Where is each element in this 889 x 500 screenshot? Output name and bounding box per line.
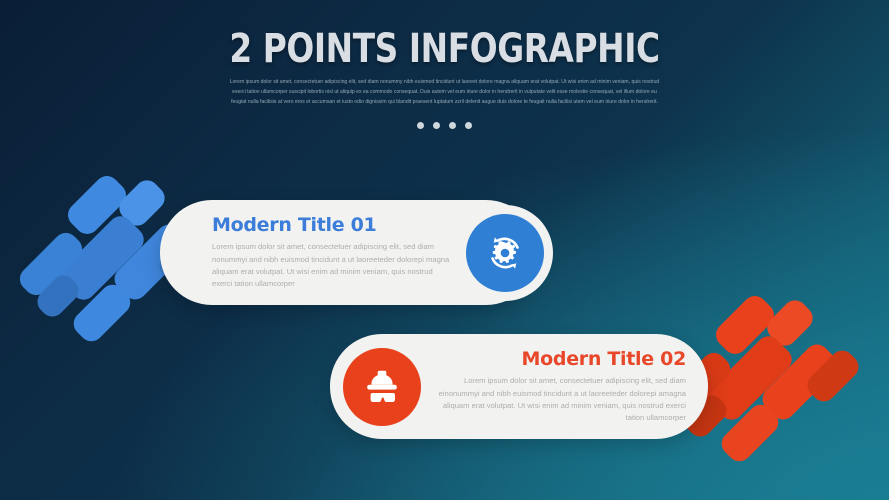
header: 2 POINTS INFOGRAPHIC Lorem ipsum dolor s… (0, 0, 889, 129)
card-text-block: Modern Title 02 Lorem ipsum dolor sit am… (431, 334, 686, 439)
safety-helmet-goggles-icon[interactable] (343, 348, 421, 426)
intro-paragraph: Lorem ipsum dolor sit amet, consectetuer… (227, 78, 663, 108)
dot-indicator[interactable] (449, 122, 456, 129)
dot-indicator[interactable] (417, 122, 424, 129)
dot-indicator[interactable] (433, 122, 440, 129)
card-text-block: Modern Title 01 Lorem ipsum dolor sit am… (212, 200, 452, 305)
dot-indicator[interactable] (465, 122, 472, 129)
red-diamond-cluster (690, 298, 870, 478)
card-description-01: Lorem ipsum dolor sit amet, consectetuer… (212, 241, 452, 290)
infographic-canvas: 2 POINTS INFOGRAPHIC Lorem ipsum dolor s… (0, 0, 889, 500)
dot-indicators (0, 122, 889, 129)
page-title: 2 POINTS INFOGRAPHIC (80, 0, 809, 70)
card-title-02: Modern Title 02 (522, 348, 686, 370)
gear-refresh-icon[interactable] (466, 214, 544, 292)
card-title-01: Modern Title 01 (212, 214, 376, 236)
card-description-02: Lorem ipsum dolor sit amet, consectetuer… (431, 375, 686, 424)
